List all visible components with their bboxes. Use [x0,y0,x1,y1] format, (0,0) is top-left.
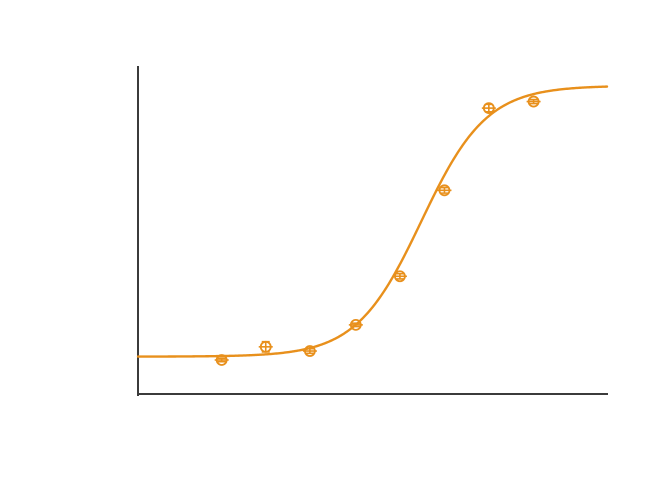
y-axis-title [27,96,61,356]
chart-figure [0,0,650,499]
plot-area [138,67,607,394]
